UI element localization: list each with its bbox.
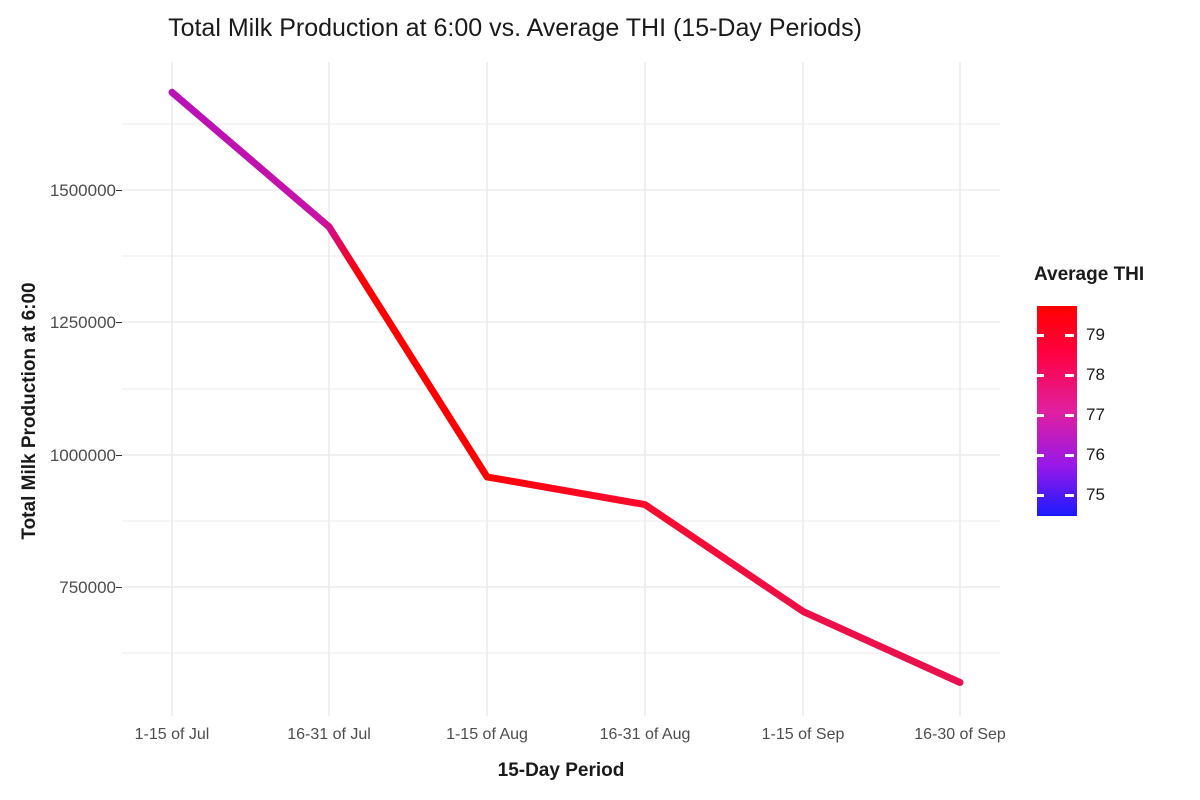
y-tick-label: 1250000 [26,313,116,333]
x-tick-label: 1-15 of Aug [446,726,528,744]
legend-colorbar [1037,306,1077,516]
x-tick-label: 1-15 of Sep [762,726,845,744]
legend-title: Average THI [1034,264,1144,286]
y-tick-label: 750000 [26,578,116,598]
x-tick-label: 16-31 of Aug [600,726,691,744]
legend-tick-mark [1037,334,1044,337]
legend-tick-label: 78 [1086,365,1105,385]
legend-tick-mark [1065,334,1074,337]
x-tick-label: 16-31 of Jul [287,726,371,744]
legend-tick-mark [1037,374,1044,377]
legend-tick-mark [1065,454,1074,457]
y-tick-label: 1500000 [26,181,116,201]
legend-tick-label: 79 [1086,325,1105,345]
x-tick-label: 1-15 of Jul [135,726,210,744]
legend-tick-label: 77 [1086,405,1105,425]
chart-title: Total Milk Production at 6:00 vs. Averag… [0,14,1030,43]
legend-tick-mark [1037,454,1044,457]
legend-tick-mark [1065,494,1074,497]
plot-panel [122,62,1000,716]
grid-minor-horizontal [122,124,1000,653]
x-tick-label: 16-30 of Sep [914,726,1006,744]
data-line-milk-production [172,92,960,682]
legend-tick-label: 76 [1086,445,1105,465]
y-tick-label: 1000000 [26,446,116,466]
plot-svg [122,62,1000,716]
legend-tick-mark [1037,494,1044,497]
legend-tick-mark [1065,374,1074,377]
chart-container: Total Milk Production at 6:00 vs. Averag… [0,0,1200,800]
legend-tick-mark [1037,414,1044,417]
y-axis-title: Total Milk Production at 6:00 [19,176,41,646]
legend-tick-mark [1065,414,1074,417]
legend-tick-label: 75 [1086,485,1105,505]
x-axis-title: 15-Day Period [122,760,1000,782]
